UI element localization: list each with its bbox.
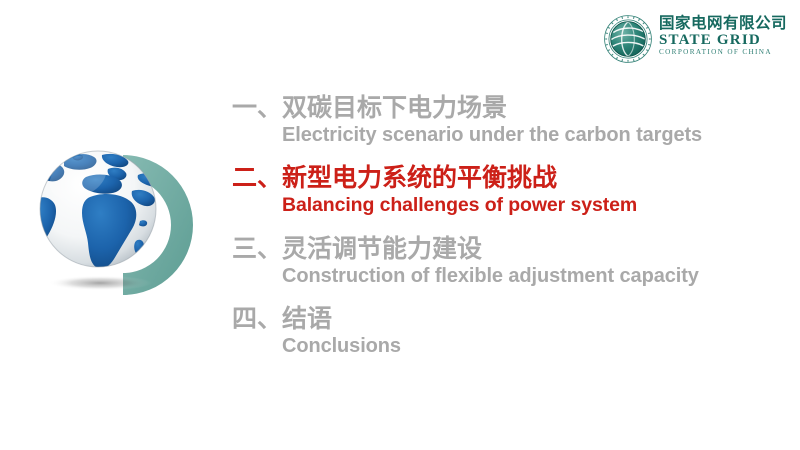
agenda-item-2-title-en: Balancing challenges of power system (232, 193, 777, 218)
agenda-item-4-number: 四、 (232, 304, 282, 333)
agenda-list: 一、双碳目标下电力场景 Electricity scenario under t… (232, 92, 777, 359)
agenda-item-4-title-cn: 四、结语 (232, 303, 777, 334)
slide-canvas: 国家电网有限公司 STATE GRID CORPORATION OF CHINA (0, 0, 800, 450)
agenda-item-2-title-cn: 二、新型电力系统的平衡挑战 (232, 162, 777, 193)
agenda-item-1[interactable]: 一、双碳目标下电力场景 Electricity scenario under t… (232, 92, 777, 148)
logo-corporation-line: CORPORATION OF CHINA (659, 48, 787, 57)
globe-artwork (20, 125, 220, 320)
logo-name-en: STATE GRID (659, 32, 787, 48)
agenda-item-1-title-en: Electricity scenario under the carbon ta… (232, 123, 777, 148)
ellipse-shadow-icon (48, 276, 152, 291)
agenda-item-3-title-cn-text: 灵活调节能力建设 (282, 234, 482, 263)
agenda-item-3[interactable]: 三、灵活调节能力建设 Construction of flexible adju… (232, 233, 777, 289)
state-grid-globe-emblem-icon (603, 14, 653, 64)
agenda-item-3-title-en: Construction of flexible adjustment capa… (232, 264, 777, 289)
agenda-item-4-title-cn-text: 结语 (282, 304, 332, 333)
agenda-item-3-number: 三、 (232, 234, 282, 263)
agenda-item-2[interactable]: 二、新型电力系统的平衡挑战 Balancing challenges of po… (232, 162, 777, 218)
state-grid-logo: 国家电网有限公司 STATE GRID CORPORATION OF CHINA (603, 14, 795, 66)
agenda-item-4[interactable]: 四、结语 Conclusions (232, 303, 777, 359)
state-grid-logo-text: 国家电网有限公司 STATE GRID CORPORATION OF CHINA (659, 14, 787, 57)
agenda-item-1-title-cn-text: 双碳目标下电力场景 (282, 93, 507, 122)
agenda-item-3-title-cn: 三、灵活调节能力建设 (232, 233, 777, 264)
agenda-item-1-number: 一、 (232, 93, 282, 122)
agenda-item-4-title-en: Conclusions (232, 334, 777, 359)
agenda-item-2-number: 二、 (232, 163, 282, 192)
agenda-item-1-title-cn: 一、双碳目标下电力场景 (232, 92, 777, 123)
logo-name-cn: 国家电网有限公司 (659, 15, 787, 32)
agenda-item-2-title-cn-text: 新型电力系统的平衡挑战 (282, 163, 557, 192)
